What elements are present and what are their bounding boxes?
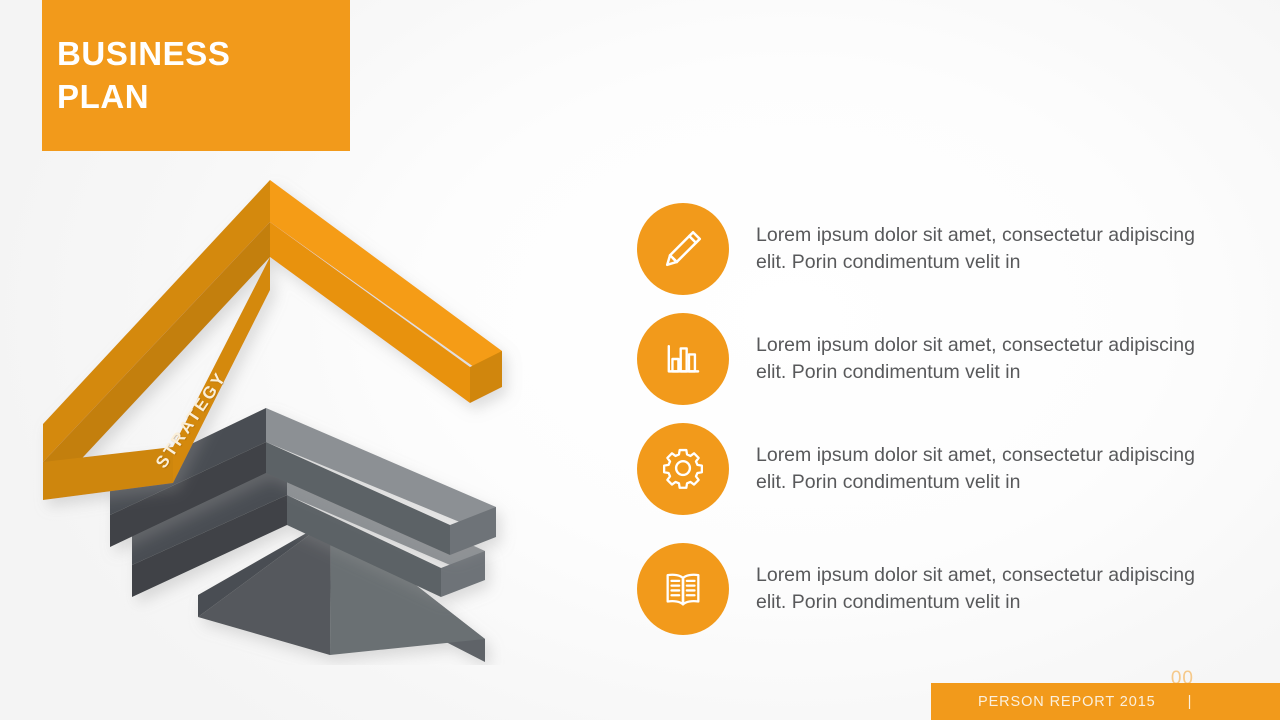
page-title-line-1: BUSINESS — [57, 33, 350, 75]
page-title-line-2: PLAN — [57, 76, 350, 118]
pyramid-diagram: STRATEGY — [30, 165, 540, 665]
title-block: BUSINESS PLAN — [42, 0, 350, 151]
open-book-icon[interactable] — [637, 543, 729, 635]
bar-chart-icon[interactable] — [637, 313, 729, 405]
gear-icon[interactable] — [637, 423, 729, 515]
list-item[interactable]: Lorem ipsum dolor sit amet, consectetur … — [637, 203, 1217, 295]
list-item[interactable]: Lorem ipsum dolor sit amet, consectetur … — [637, 313, 1217, 405]
footer-separator: | — [1188, 694, 1192, 710]
list-item[interactable]: Lorem ipsum dolor sit amet, consectetur … — [637, 543, 1217, 635]
list-item-text: Lorem ipsum dolor sit amet, consectetur … — [756, 442, 1196, 496]
list-item-text: Lorem ipsum dolor sit amet, consectetur … — [756, 222, 1196, 276]
content-list: Lorem ipsum dolor sit amet, consectetur … — [637, 0, 1237, 720]
list-item-text: Lorem ipsum dolor sit amet, consectetur … — [756, 332, 1196, 386]
footer-label: PERSON REPORT 2015 — [978, 694, 1156, 710]
slide-canvas: BUSINESS PLAN — [0, 0, 1280, 720]
list-item[interactable]: Lorem ipsum dolor sit amet, consectetur … — [637, 423, 1217, 515]
pencil-icon[interactable] — [637, 203, 729, 295]
footer-bar: PERSON REPORT 2015 | — [931, 683, 1280, 720]
list-item-text: Lorem ipsum dolor sit amet, consectetur … — [756, 562, 1196, 616]
